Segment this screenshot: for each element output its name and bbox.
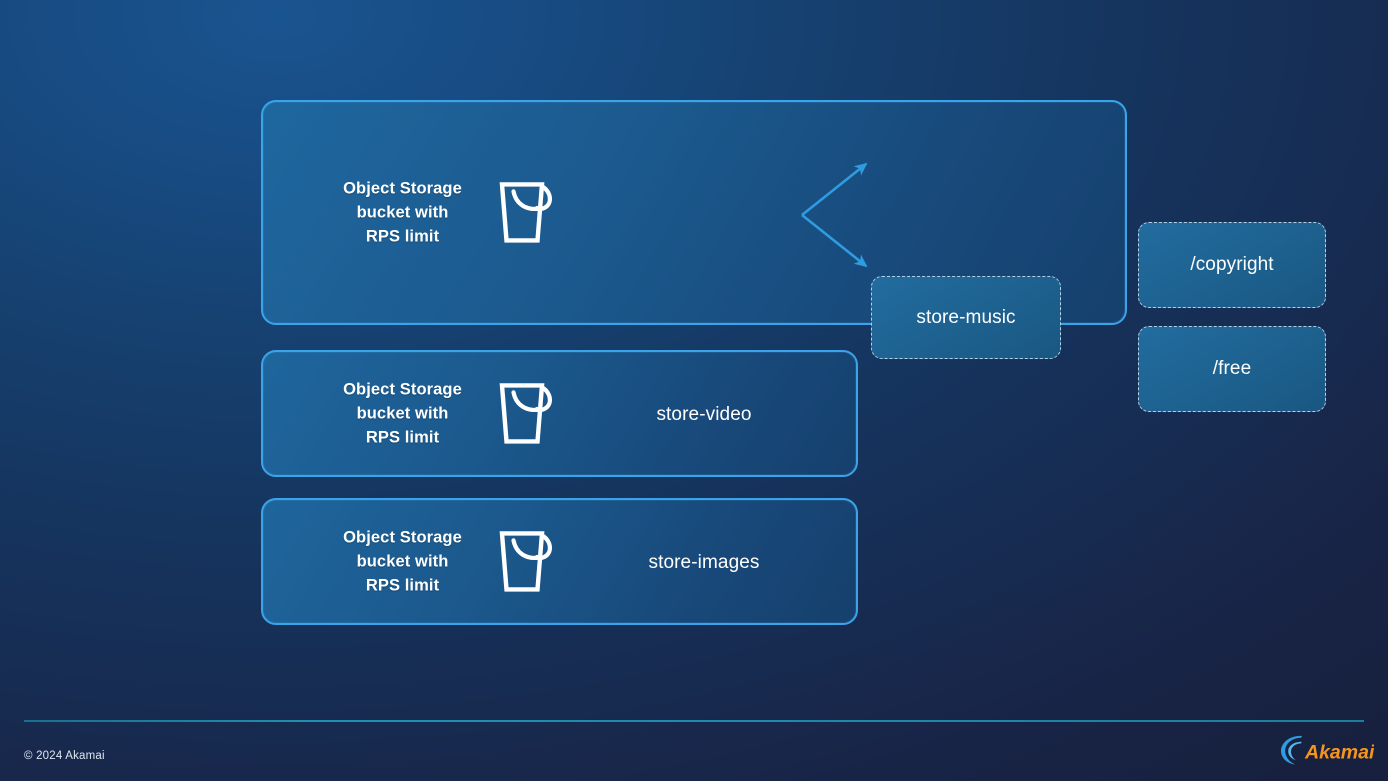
bucket-label-group-video: Object Storage bucket with RPS limit (333, 377, 558, 450)
object-storage-card-music[interactable]: Object Storage bucket with RPS limit sto… (261, 100, 1127, 325)
object-storage-card-images[interactable]: Object Storage bucket with RPS limit sto… (261, 498, 858, 625)
prefix-box-copyright[interactable]: /copyright (1138, 222, 1326, 308)
slide-footer: © 2024 Akamai Akamai (0, 720, 1388, 781)
akamai-wave-icon (1281, 736, 1302, 764)
bucket-label-images: Object Storage bucket with RPS limit (333, 525, 472, 598)
bucket-icon (496, 528, 558, 596)
copyright-text: © 2024 Akamai (24, 750, 105, 762)
bucket-label-group-images: Object Storage bucket with RPS limit (333, 525, 558, 598)
akamai-logo: Akamai (1278, 732, 1374, 768)
akamai-wordmark: Akamai (1304, 742, 1374, 764)
bucket-icon (496, 380, 558, 448)
bucket-label-music: Object Storage bucket with RPS limit (333, 176, 472, 249)
bucket-label-group-music: Object Storage bucket with RPS limit (333, 176, 558, 249)
object-storage-card-video[interactable]: Object Storage bucket with RPS limit sto… (261, 350, 858, 477)
bucket-label-video: Object Storage bucket with RPS limit (333, 377, 472, 450)
bucket-icon (496, 179, 558, 247)
bucket-name-store-video: store-video (656, 404, 751, 426)
prefix-box-free[interactable]: /free (1138, 326, 1326, 412)
bucket-name-store-music[interactable]: store-music (871, 276, 1061, 359)
bucket-name-store-images: store-images (648, 552, 759, 574)
architecture-diagram: Object Storage bucket with RPS limit sto… (0, 0, 1388, 700)
slide-canvas: Object Storage bucket with RPS limit sto… (0, 0, 1388, 781)
footer-divider (24, 720, 1364, 722)
